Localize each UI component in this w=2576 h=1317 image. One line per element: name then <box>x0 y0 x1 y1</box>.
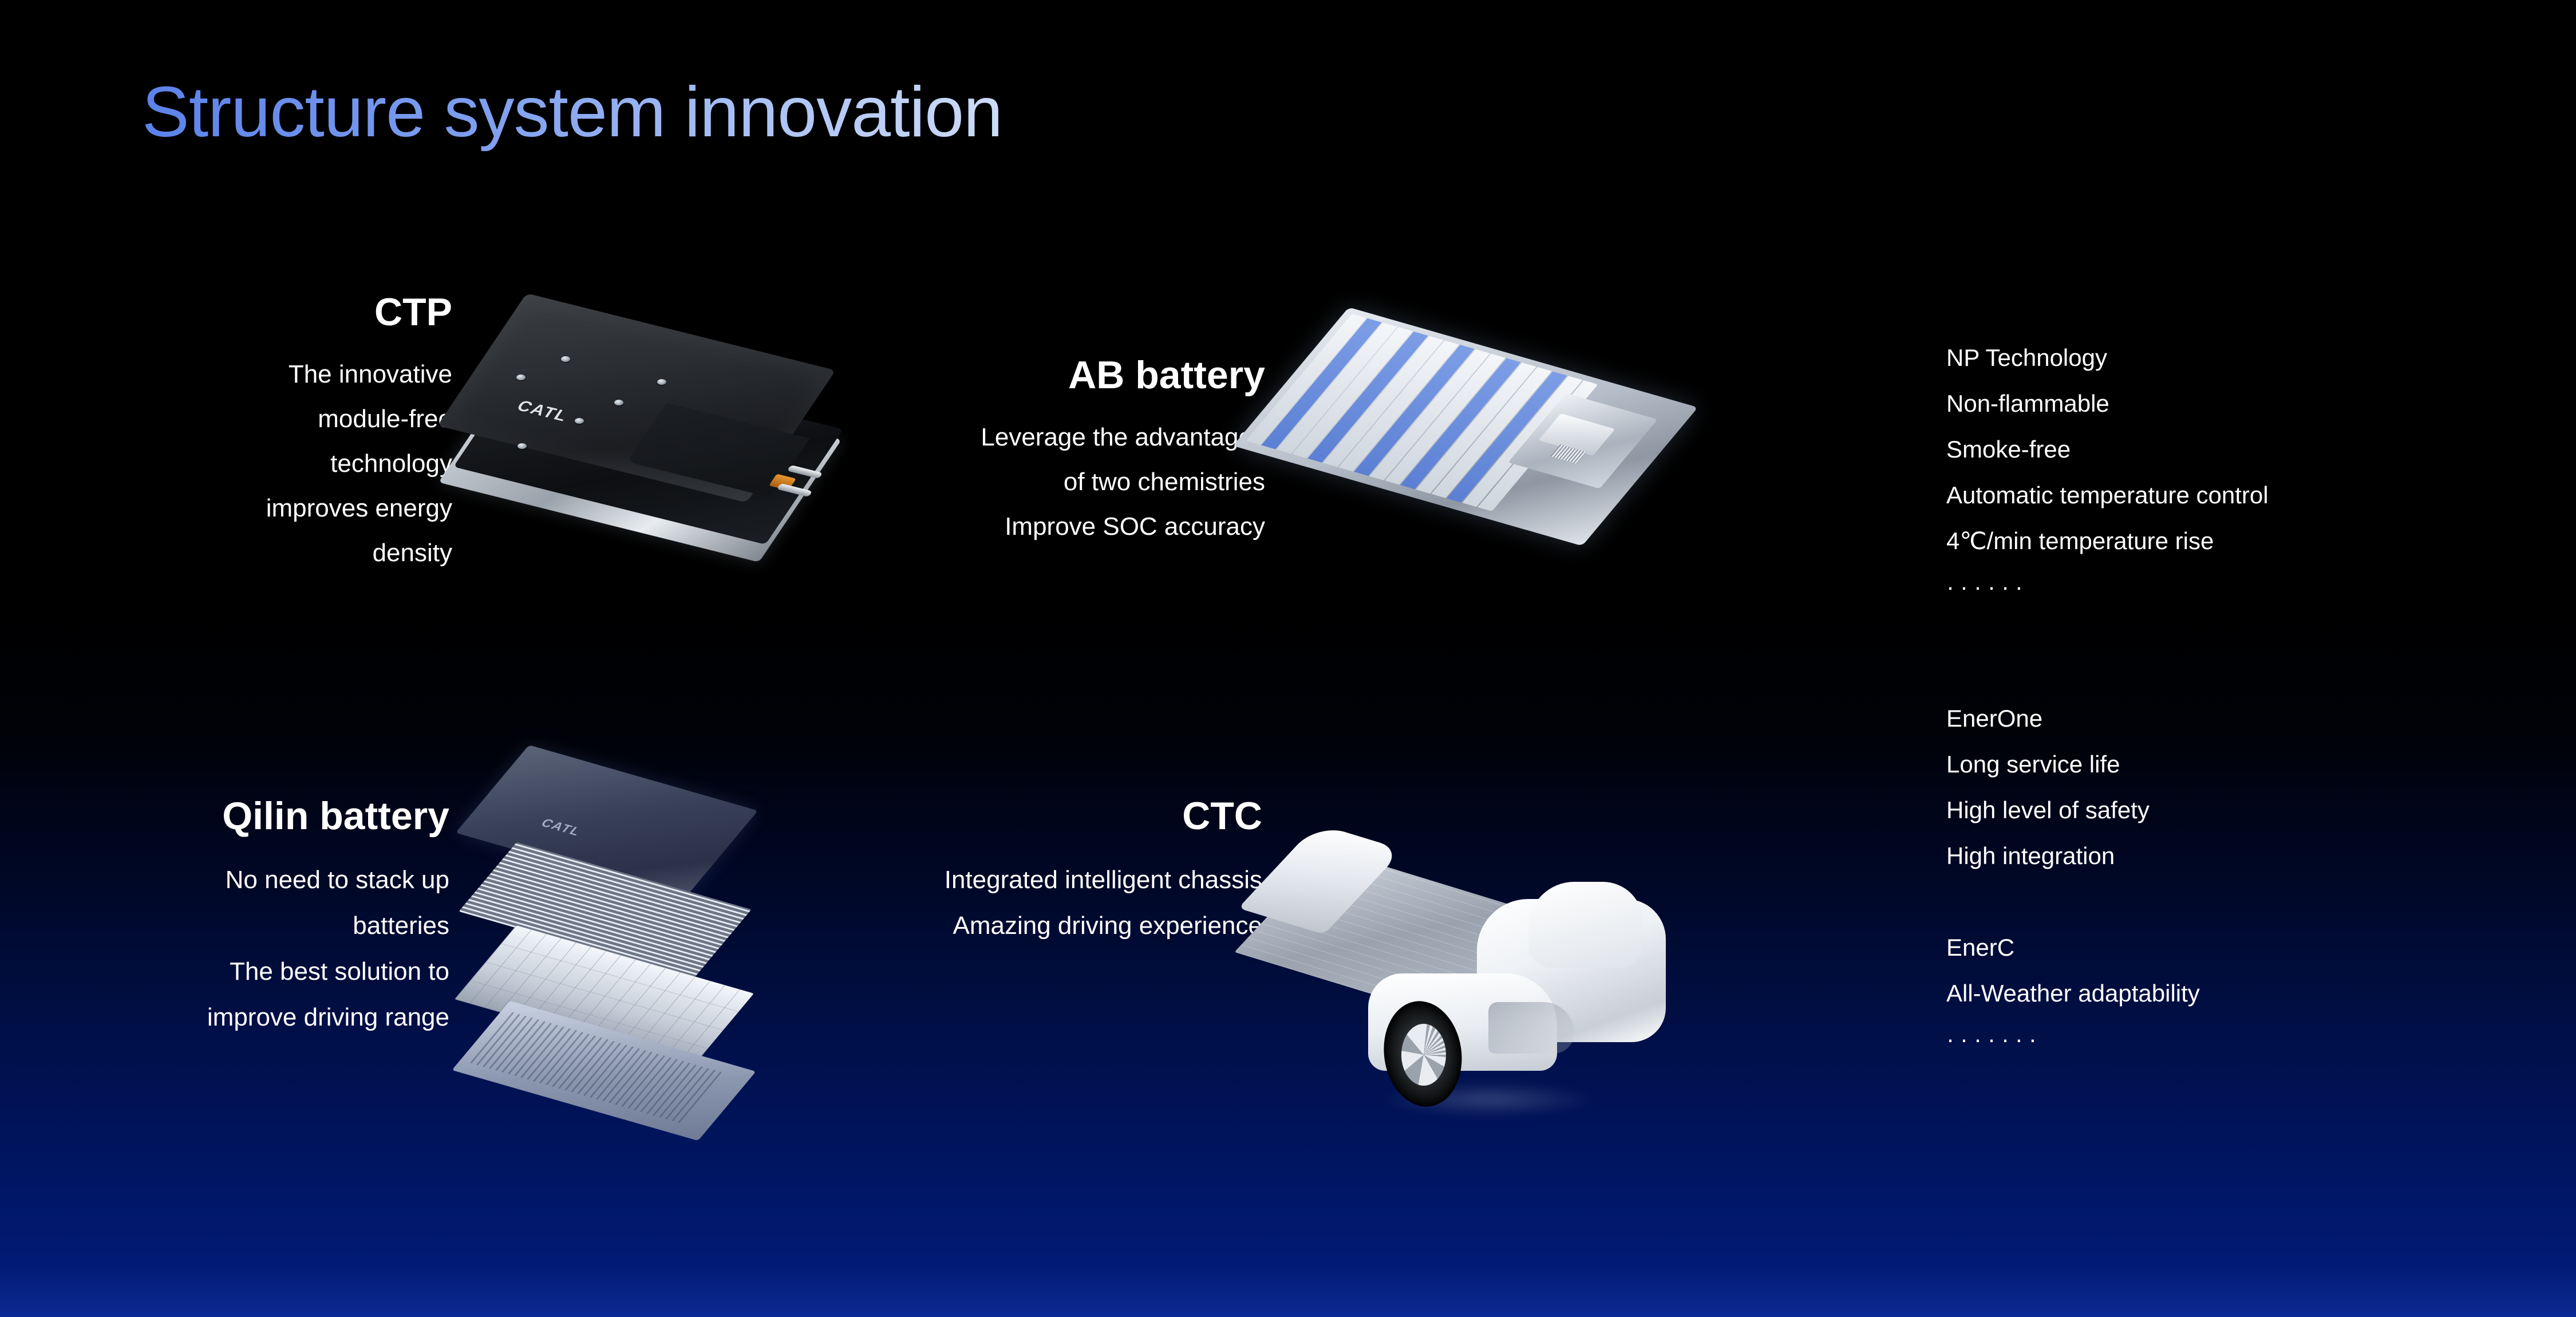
ctc-cowl-hump <box>1528 882 1643 968</box>
spec-item: All-Weather adaptability <box>1946 971 2200 1016</box>
ctp-bolt-icon <box>517 443 527 449</box>
section-qilin-battery: Qilin battery No need to stack up batter… <box>69 796 449 1040</box>
spec-item-ellipsis: ······· <box>1946 1016 2200 1062</box>
section-ctc-line-1: Integrated intelligent chassis <box>744 857 1262 903</box>
ctp-bolt-icon <box>575 418 584 424</box>
spec-item-ellipsis: ······ <box>1946 564 2269 610</box>
spec-list-ener-products: EnerOne Long service life High level of … <box>1946 696 2200 1062</box>
ctp-bolt-icon <box>561 356 570 362</box>
spec-item: Long service life <box>1946 742 2200 787</box>
section-qilin-line-2: batteries <box>69 903 449 949</box>
spec-item: Smoke-free <box>1946 427 2269 472</box>
section-ctp-line-3: technology <box>80 441 452 486</box>
ab-battery-pack-image <box>1291 318 1680 564</box>
page-title: Structure system innovation <box>142 73 1002 151</box>
section-qilin-line-4: improve driving range <box>69 995 449 1040</box>
section-ctp: CTP The innovative module-free technolog… <box>80 292 452 575</box>
section-ctp-line-2: module-free <box>80 397 452 441</box>
spec-item: High integration <box>1946 833 2200 879</box>
section-qilin-line-3: The best solution to <box>69 949 449 995</box>
section-ab-battery-line-1: Leverage the advantages <box>727 415 1265 460</box>
section-ab-battery-line-3: Improve SOC accuracy <box>727 504 1265 549</box>
ctp-bolt-icon <box>516 374 526 380</box>
slide-canvas: Structure system innovation CTP The inno… <box>0 0 2576 1317</box>
spec-item-enerc: EnerC <box>1946 925 2200 971</box>
ctc-chassis-image <box>1282 813 1694 1117</box>
ctc-wheel-rim <box>1401 1024 1446 1086</box>
spec-list-np-technology: NP Technology Non-flammable Smoke-free A… <box>1946 335 2269 610</box>
spec-group-gap <box>1946 879 2200 925</box>
section-qilin-line-1: No need to stack up <box>69 857 449 903</box>
ctp-bolt-icon <box>657 379 666 385</box>
section-ctc: CTC Integrated intelligent chassis Amazi… <box>744 796 1262 949</box>
section-ab-battery: AB battery Leverage the advantages of tw… <box>727 355 1265 549</box>
spec-item: NP Technology <box>1946 335 2269 381</box>
spec-item: Non-flammable <box>1946 381 2269 427</box>
spec-item: 4℃/min temperature rise <box>1946 518 2269 564</box>
section-ctp-line-4: improves energy <box>80 486 452 531</box>
section-qilin-title: Qilin battery <box>69 796 449 837</box>
ctc-side-vent <box>1488 1002 1574 1054</box>
spec-item: Automatic temperature control <box>1946 472 2269 518</box>
section-ab-battery-title: AB battery <box>727 355 1265 396</box>
section-ctp-title: CTP <box>80 292 452 333</box>
spec-item-enerone: EnerOne <box>1946 696 2200 742</box>
ctp-bolt-icon <box>614 400 623 405</box>
section-ctp-line-5: density <box>80 531 452 575</box>
spec-item: High level of safety <box>1946 787 2200 833</box>
section-ab-battery-line-2: of two chemistries <box>727 460 1265 504</box>
section-ctp-line-1: The innovative <box>80 352 452 397</box>
section-ctc-title: CTC <box>744 796 1262 837</box>
section-ctc-line-2: Amazing driving experience <box>744 903 1262 949</box>
